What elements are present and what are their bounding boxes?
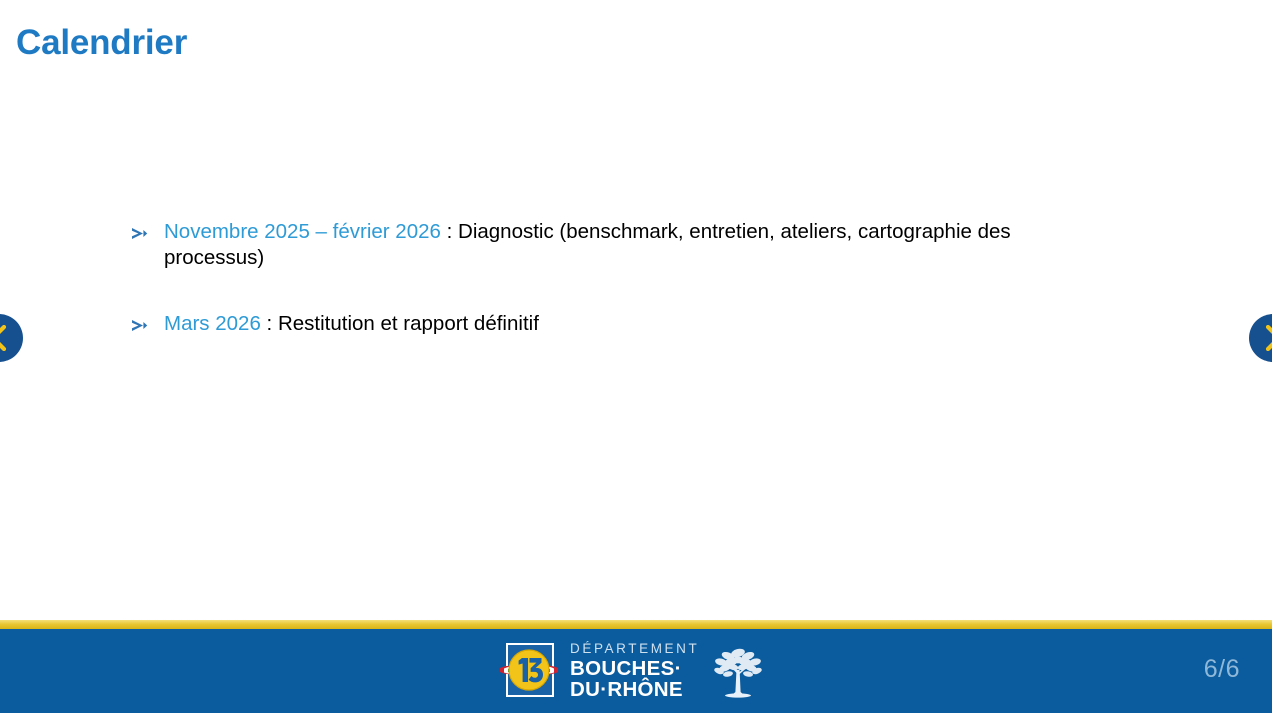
list-item-text: Novembre 2025 – février 2026 : Diagnosti… bbox=[164, 219, 1091, 271]
logo-wordmark: DÉPARTEMENT BOUCHES· DU·RHÔNE bbox=[570, 642, 699, 701]
list-item-text: Mars 2026 : Restitution et rapport défin… bbox=[164, 311, 1091, 337]
list-item-rest: : Restitution et rapport définitif bbox=[261, 312, 539, 335]
slide-canvas: Calendrier Novembre 2025 – février 2026 … bbox=[0, 0, 1272, 713]
page-indicator: 6/6 bbox=[1204, 655, 1240, 684]
logo-department-label: DÉPARTEMENT bbox=[570, 642, 699, 656]
page-title: Calendrier bbox=[16, 22, 187, 64]
list-item-accent: Mars 2026 bbox=[164, 312, 261, 335]
next-slide-button[interactable] bbox=[1249, 314, 1272, 362]
list-item-accent: Novembre 2025 – février 2026 bbox=[164, 220, 441, 243]
slide-viewer: Calendrier Novembre 2025 – février 2026 … bbox=[0, 0, 1272, 713]
logo-name-line-2: DU·RHÔNE bbox=[570, 679, 699, 700]
logo-name-line-1: BOUCHES· bbox=[570, 658, 699, 679]
arrow-bullet-icon bbox=[131, 311, 164, 332]
list-item: Novembre 2025 – février 2026 : Diagnosti… bbox=[131, 219, 1091, 271]
previous-slide-button[interactable] bbox=[0, 314, 23, 362]
olive-tree-icon bbox=[707, 640, 769, 702]
chevron-right-icon bbox=[1262, 325, 1272, 351]
bullet-list: Novembre 2025 – février 2026 : Diagnosti… bbox=[131, 219, 1091, 337]
gold-divider bbox=[0, 620, 1272, 629]
chevron-left-icon bbox=[0, 325, 10, 351]
arrow-bullet-icon bbox=[131, 219, 164, 240]
bouches-du-rhone-emblem-icon bbox=[498, 640, 560, 702]
department-logo: DÉPARTEMENT BOUCHES· DU·RHÔNE bbox=[498, 640, 769, 702]
list-item: Mars 2026 : Restitution et rapport défin… bbox=[131, 311, 1091, 337]
